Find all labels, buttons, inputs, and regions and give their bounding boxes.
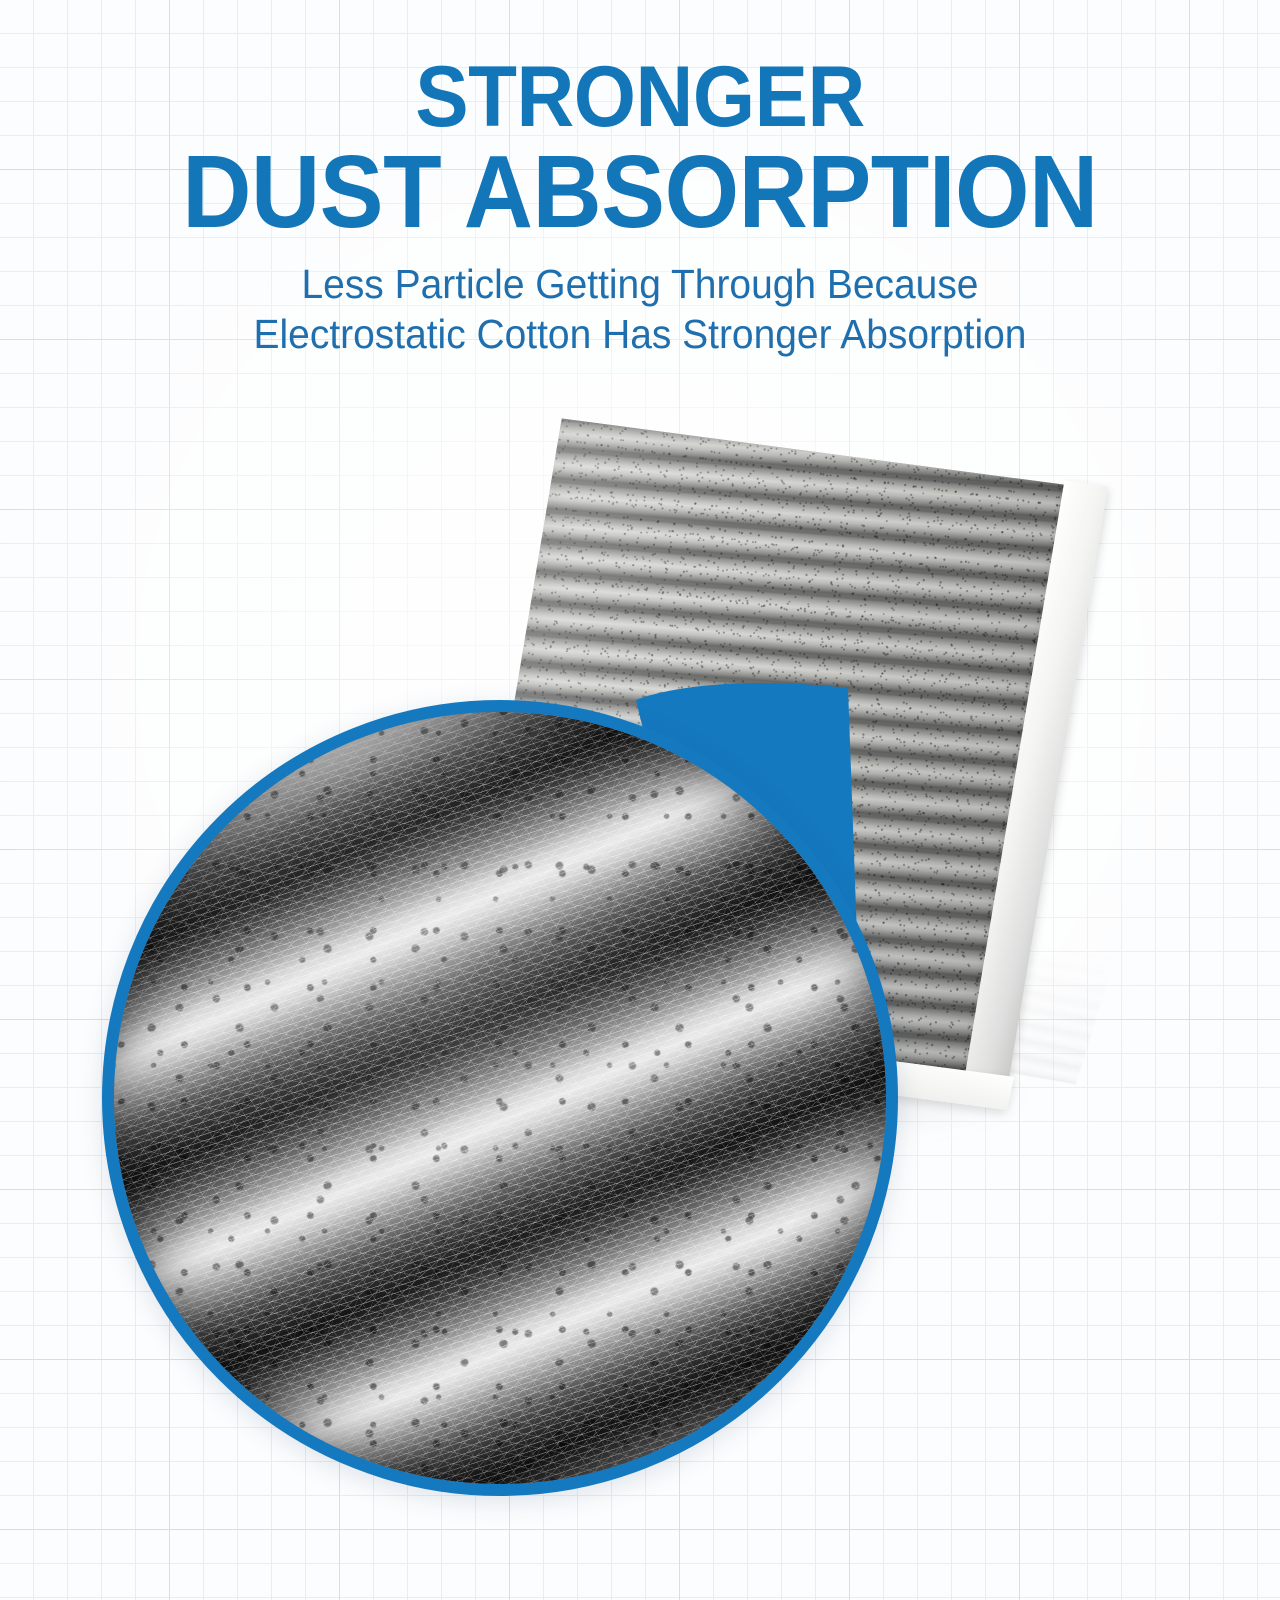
headline-line-1: STRONGER [45, 56, 1235, 139]
product-infographic-poster: STRONGER DUST ABSORPTION Less Particle G… [0, 0, 1280, 1600]
magnifier-lens-content [114, 712, 886, 1484]
headline-line-2: DUST ABSORPTION [45, 143, 1235, 242]
magnifier-circle [102, 700, 898, 1496]
magnifier-edge-vignette [114, 712, 886, 1484]
subtitle-line-2: Electrostatic Cotton Has Stronger Absorp… [32, 309, 1248, 359]
subtitle-line-1: Less Particle Getting Through Because [32, 259, 1248, 309]
subtitle: Less Particle Getting Through Because El… [32, 259, 1248, 359]
page-title: STRONGER DUST ABSORPTION [0, 56, 1280, 241]
headline-block: STRONGER DUST ABSORPTION Less Particle G… [0, 56, 1280, 359]
